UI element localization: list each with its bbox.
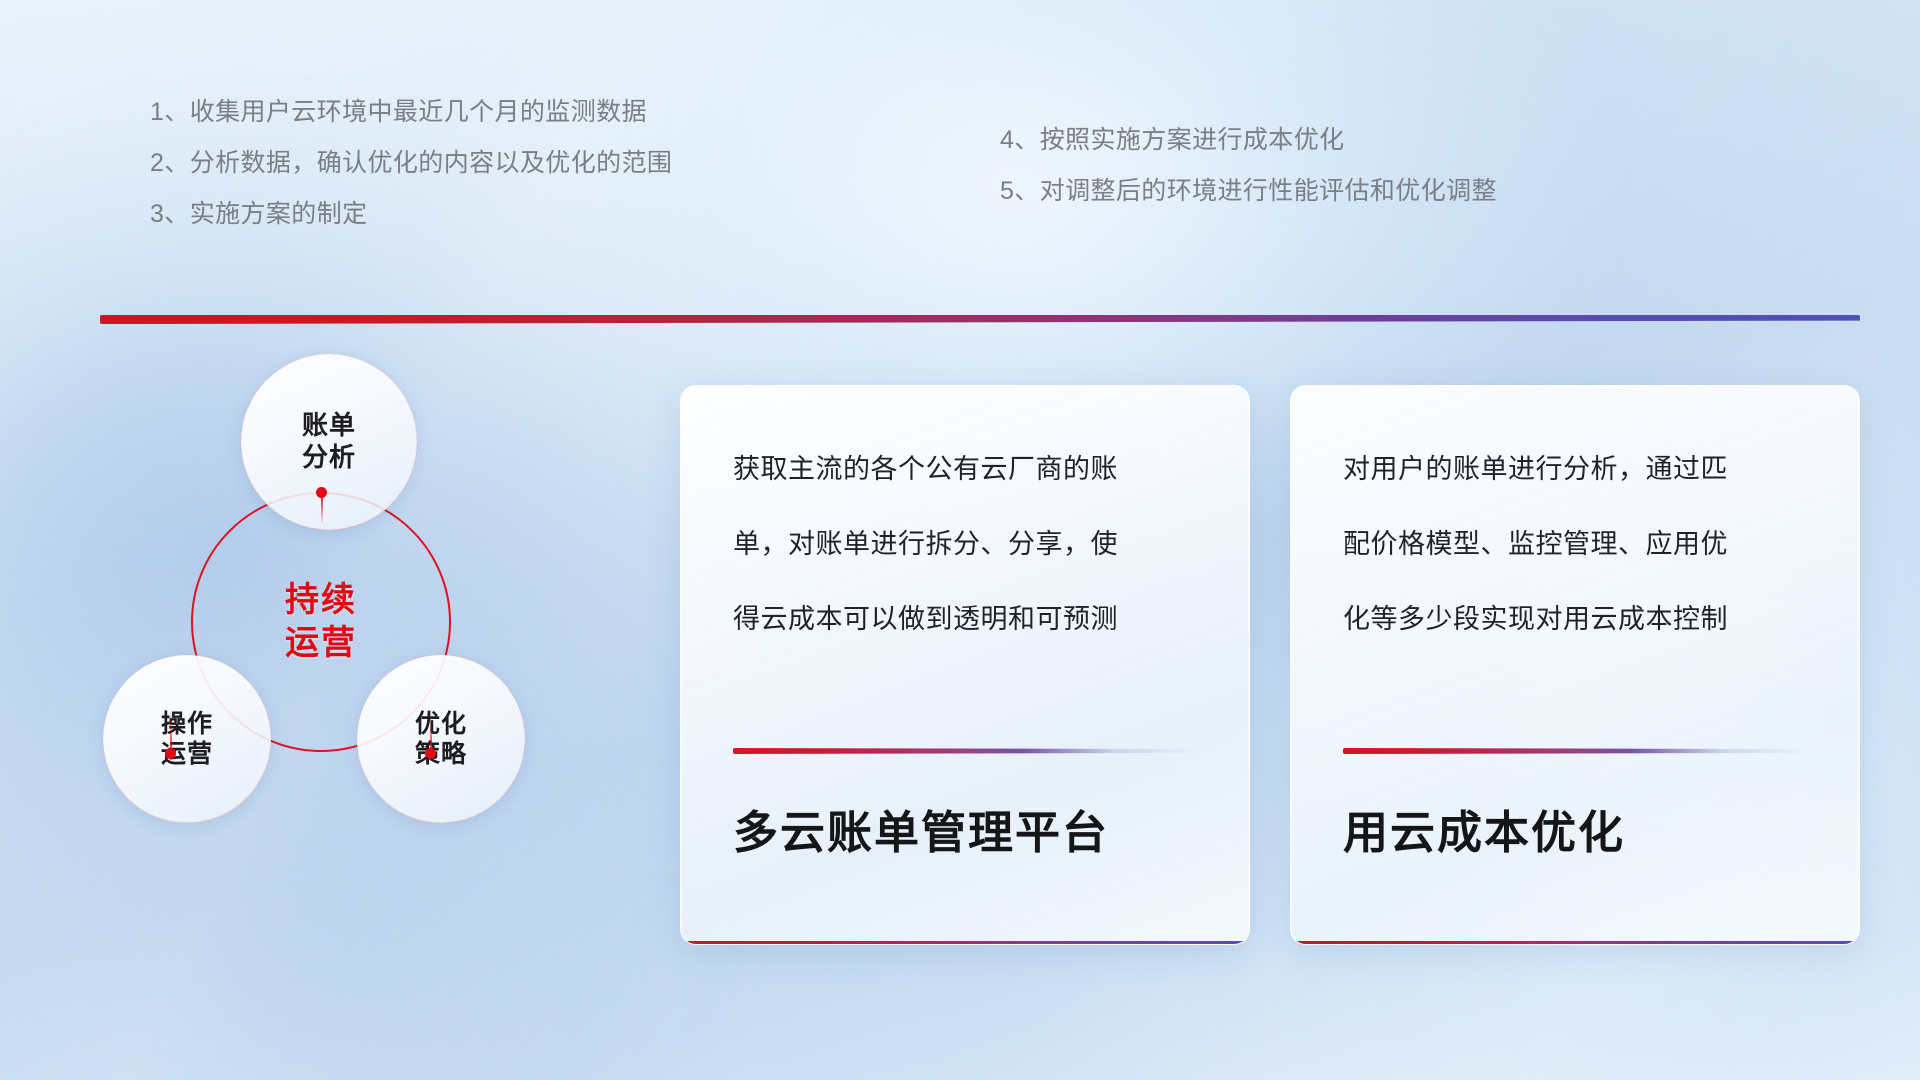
diagram-center-label: 持续 运营 xyxy=(191,492,451,752)
steps-list-left: 1、收集用户云环境中最近几个月的监测数据 2、分析数据，确认优化的内容以及优化的… xyxy=(150,100,672,227)
card-title: 用云成本优化 xyxy=(1343,796,1625,861)
center-label-line-1: 持续 xyxy=(285,579,357,622)
card-paragraph-line-2: 单，对账单进行拆分、分享，使 xyxy=(733,531,1197,558)
step-item-2: 2、分析数据，确认优化的内容以及优化的范围 xyxy=(150,151,672,176)
connector-tick-right xyxy=(430,710,432,750)
card-paragraph-line-2: 配价格模型、监控管理、应用优 xyxy=(1343,531,1807,558)
card-body-text: 对用户的账单进行分析，通过匹 配价格模型、监控管理、应用优 化等多少段实现对用云… xyxy=(1291,386,1859,633)
card-title: 多云账单管理平台 xyxy=(733,796,1109,861)
card-paragraph-line-1: 获取主流的各个公有云厂商的账 xyxy=(733,456,1197,483)
step-item-5: 5、对调整后的环境进行性能评估和优化调整 xyxy=(1000,179,1497,204)
center-label-line-2: 运营 xyxy=(285,622,357,665)
step-item-1: 1、收集用户云环境中最近几个月的监测数据 xyxy=(150,100,672,125)
feature-card-multi-cloud-billing[interactable]: 获取主流的各个公有云厂商的账 单，对账单进行拆分、分享，使 得云成本可以做到透明… xyxy=(680,385,1250,945)
steps-list-right: 4、按照实施方案进行成本优化 5、对调整后的环境进行性能评估和优化调整 xyxy=(1000,128,1497,204)
connector-tick-top xyxy=(321,498,323,524)
card-accent-rule xyxy=(733,748,1197,754)
connector-dot-left xyxy=(165,748,176,759)
step-item-3: 3、实施方案的制定 xyxy=(150,202,672,227)
connector-dot-right xyxy=(425,748,436,759)
card-paragraph-line-3: 得云成本可以做到透明和可预测 xyxy=(733,606,1197,633)
card-body-text: 获取主流的各个公有云厂商的账 单，对账单进行拆分、分享，使 得云成本可以做到透明… xyxy=(681,386,1249,633)
divider-gradient-bar xyxy=(100,315,1860,324)
node-label-line-1: 账单 xyxy=(302,410,356,442)
feature-card-cloud-cost-optimization[interactable]: 对用户的账单进行分析，通过匹 配价格模型、监控管理、应用优 化等多少段实现对用云… xyxy=(1290,385,1860,945)
card-accent-rule xyxy=(1343,748,1807,754)
slide-canvas: 1、收集用户云环境中最近几个月的监测数据 2、分析数据，确认优化的内容以及优化的… xyxy=(0,0,1920,1080)
section-divider xyxy=(100,315,1860,324)
continuous-operations-diagram: 账单 分析 操作 运营 优化 策略 持续 运营 xyxy=(95,350,615,920)
card-paragraph-line-1: 对用户的账单进行分析，通过匹 xyxy=(1343,456,1807,483)
node-label-line-2: 分析 xyxy=(302,442,356,474)
card-paragraph-line-3: 化等多少段实现对用云成本控制 xyxy=(1343,606,1807,633)
connector-dot-top xyxy=(316,487,327,498)
step-item-4: 4、按照实施方案进行成本优化 xyxy=(1000,128,1497,153)
connector-tick-left xyxy=(170,710,172,750)
